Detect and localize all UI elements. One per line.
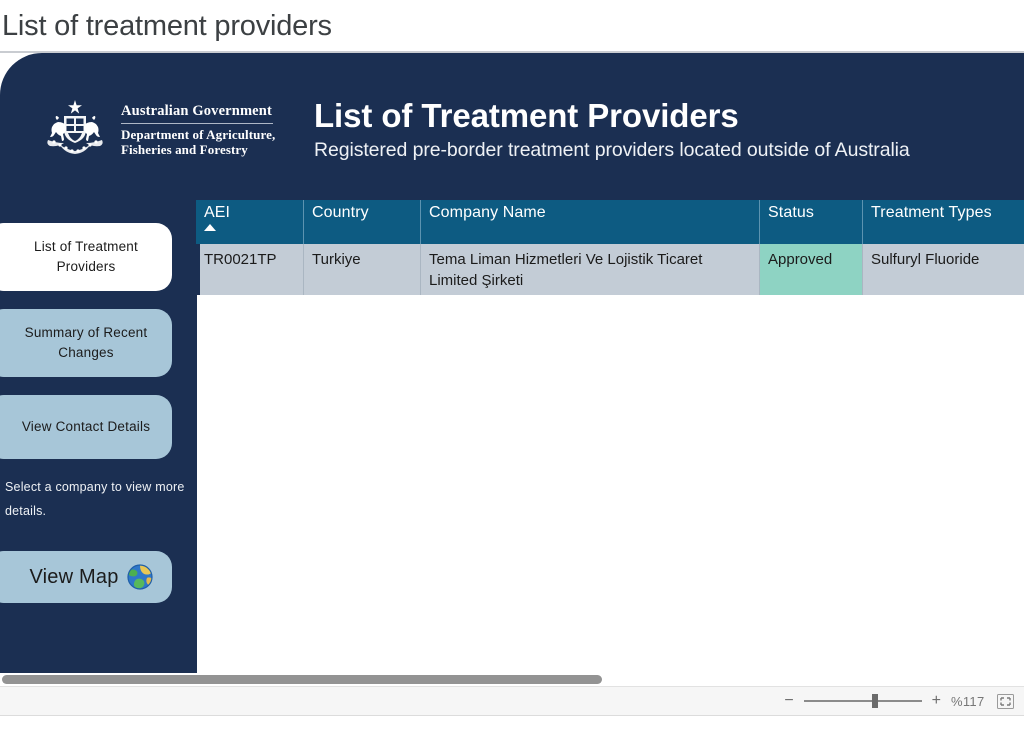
sidebar-tab-list-of-treatment-providers[interactable]: List of Treatment Providers xyxy=(0,223,172,291)
cell-country: Turkiye xyxy=(303,244,420,295)
brand-government-line: Australian Government xyxy=(121,103,275,120)
zoom-level-value: %117 xyxy=(951,694,987,709)
banner-titles: List of Treatment Providers Registered p… xyxy=(314,95,1014,163)
zoom-slider-handle[interactable] xyxy=(872,694,878,708)
globe-icon xyxy=(127,564,153,590)
horizontal-scrollbar-thumb[interactable] xyxy=(2,675,602,684)
sidebar-tab-view-contact-details[interactable]: View Contact Details xyxy=(0,395,172,459)
australian-coat-of-arms-icon xyxy=(38,98,112,160)
sidebar-tab-summary-of-recent-changes[interactable]: Summary of Recent Changes xyxy=(0,309,172,377)
bottom-strip xyxy=(0,716,1024,732)
zoom-slider-track xyxy=(804,700,922,702)
contact-details-hint: Select a company to view more details. xyxy=(5,475,185,523)
brand-department-line-2: Fisheries and Forestry xyxy=(121,142,275,157)
banner-title: List of Treatment Providers xyxy=(314,95,1014,137)
banner-subtitle: Registered pre-border treatment provider… xyxy=(314,137,1014,163)
brand-divider xyxy=(121,123,273,124)
cell-company-name: Tema Liman Hizmetleri Ve Lojistik Ticare… xyxy=(420,244,759,295)
view-map-button[interactable]: View Map xyxy=(0,551,172,603)
brand-department-line-1: Department of Agriculture, xyxy=(121,127,275,142)
table-header-row: AEI Country Company Name Status Treatmen… xyxy=(196,200,1024,244)
table-row[interactable]: TR0021TP Turkiye Tema Liman Hizmetleri V… xyxy=(196,244,1024,295)
column-header-aei-label: AEI xyxy=(204,204,230,221)
zoom-out-button[interactable]: − xyxy=(784,692,793,710)
providers-table: AEI Country Company Name Status Treatmen… xyxy=(196,200,1024,295)
brand-text: Australian Government Department of Agri… xyxy=(121,101,275,157)
fit-to-screen-icon[interactable] xyxy=(997,694,1014,709)
view-map-label: View Map xyxy=(29,566,118,589)
government-brand: Australian Government Department of Agri… xyxy=(38,91,288,167)
cell-aei: TR0021TP xyxy=(200,244,303,295)
column-header-aei[interactable]: AEI xyxy=(196,200,303,244)
column-header-country[interactable]: Country xyxy=(303,200,420,244)
column-header-status[interactable]: Status xyxy=(759,200,862,244)
zoom-in-button[interactable]: + xyxy=(932,692,941,710)
report-canvas: Australian Government Department of Agri… xyxy=(0,53,1024,677)
sort-ascending-icon xyxy=(204,224,216,231)
cell-treatment-types: Sulfuryl Fluoride xyxy=(862,244,1024,295)
column-header-treatment-types[interactable]: Treatment Types xyxy=(862,200,1024,244)
column-header-company-name[interactable]: Company Name xyxy=(420,200,759,244)
status-bar: − + %117 xyxy=(0,686,1024,716)
zoom-slider[interactable] xyxy=(804,694,922,708)
cell-status: Approved xyxy=(759,244,862,295)
page-title: List of treatment providers xyxy=(0,0,1024,52)
